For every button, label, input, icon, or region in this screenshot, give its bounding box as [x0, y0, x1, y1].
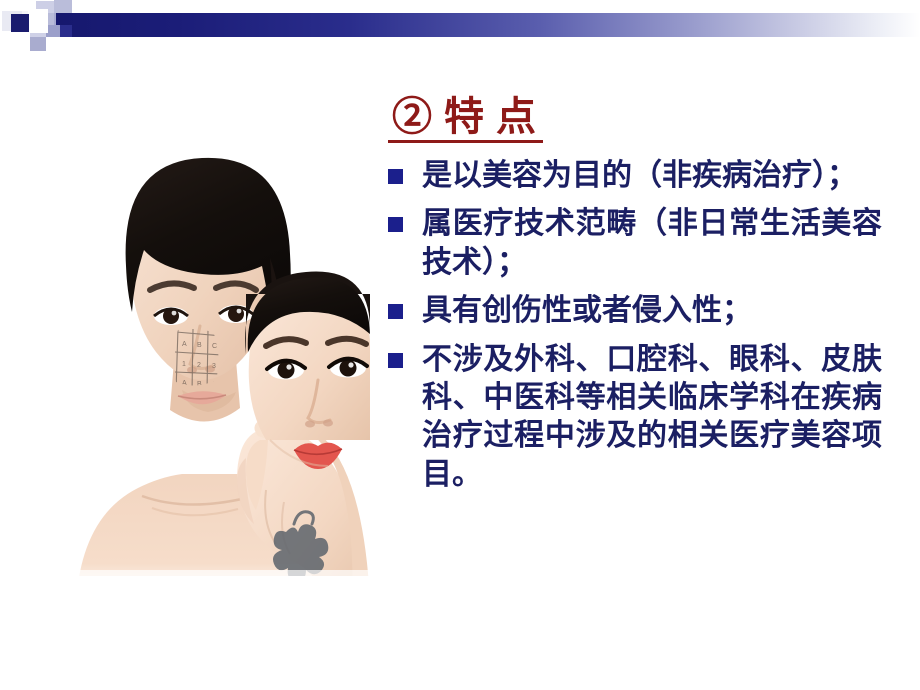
top-banner — [0, 0, 920, 60]
banner-accent-square-8 — [30, 37, 46, 51]
svg-text:C: C — [212, 343, 217, 350]
list-item: 具有创伤性或者侵入性； — [382, 292, 882, 330]
list-item: 属医疗技术范畴（非日常生活美容技术）； — [382, 205, 882, 282]
medical-beauty-photo: ABC 123 ABC — [70, 140, 370, 602]
list-item-text: 是以美容为目的（非疾病治疗）； — [422, 159, 857, 192]
banner-accent-square-7 — [46, 25, 60, 37]
list-item: 是以美容为目的（非疾病治疗）； — [382, 157, 882, 195]
bullet-square-icon — [388, 353, 403, 368]
banner-gradient-bar — [56, 13, 920, 37]
svg-text:2: 2 — [197, 362, 201, 369]
slide-content: ② 特 点 是以美容为目的（非疾病治疗）； 属医疗技术范畴（非日常生活美容技术）… — [382, 96, 882, 504]
list-item-text: 不涉及外科、口腔科、眼科、皮肤科、中医科等相关临床学科在疾病治疗过程中涉及的相关… — [422, 343, 882, 491]
page-title: ② 特 点 — [388, 96, 543, 143]
bullet-square-icon — [388, 217, 403, 232]
svg-text:A: A — [182, 341, 187, 348]
list-item: 不涉及外科、口腔科、眼科、皮肤科、中医科等相关临床学科在疾病治疗过程中涉及的相关… — [382, 341, 882, 495]
svg-text:3: 3 — [212, 363, 216, 370]
list-item-text: 属医疗技术范畴（非日常生活美容技术）； — [422, 207, 882, 278]
banner-accent-square-2 — [54, 0, 72, 13]
banner-white-gap — [28, 9, 48, 33]
banner-navy-square — [11, 14, 29, 32]
svg-text:B: B — [197, 342, 202, 349]
svg-text:1: 1 — [182, 361, 186, 368]
bullet-square-icon — [388, 169, 403, 184]
slide-canvas: ABC 123 ABC — [0, 0, 920, 690]
bullet-list: 是以美容为目的（非疾病治疗）； 属医疗技术范畴（非日常生活美容技术）； 具有创伤… — [382, 157, 882, 494]
list-item-text: 具有创伤性或者侵入性； — [422, 294, 752, 327]
bullet-square-icon — [388, 304, 403, 319]
